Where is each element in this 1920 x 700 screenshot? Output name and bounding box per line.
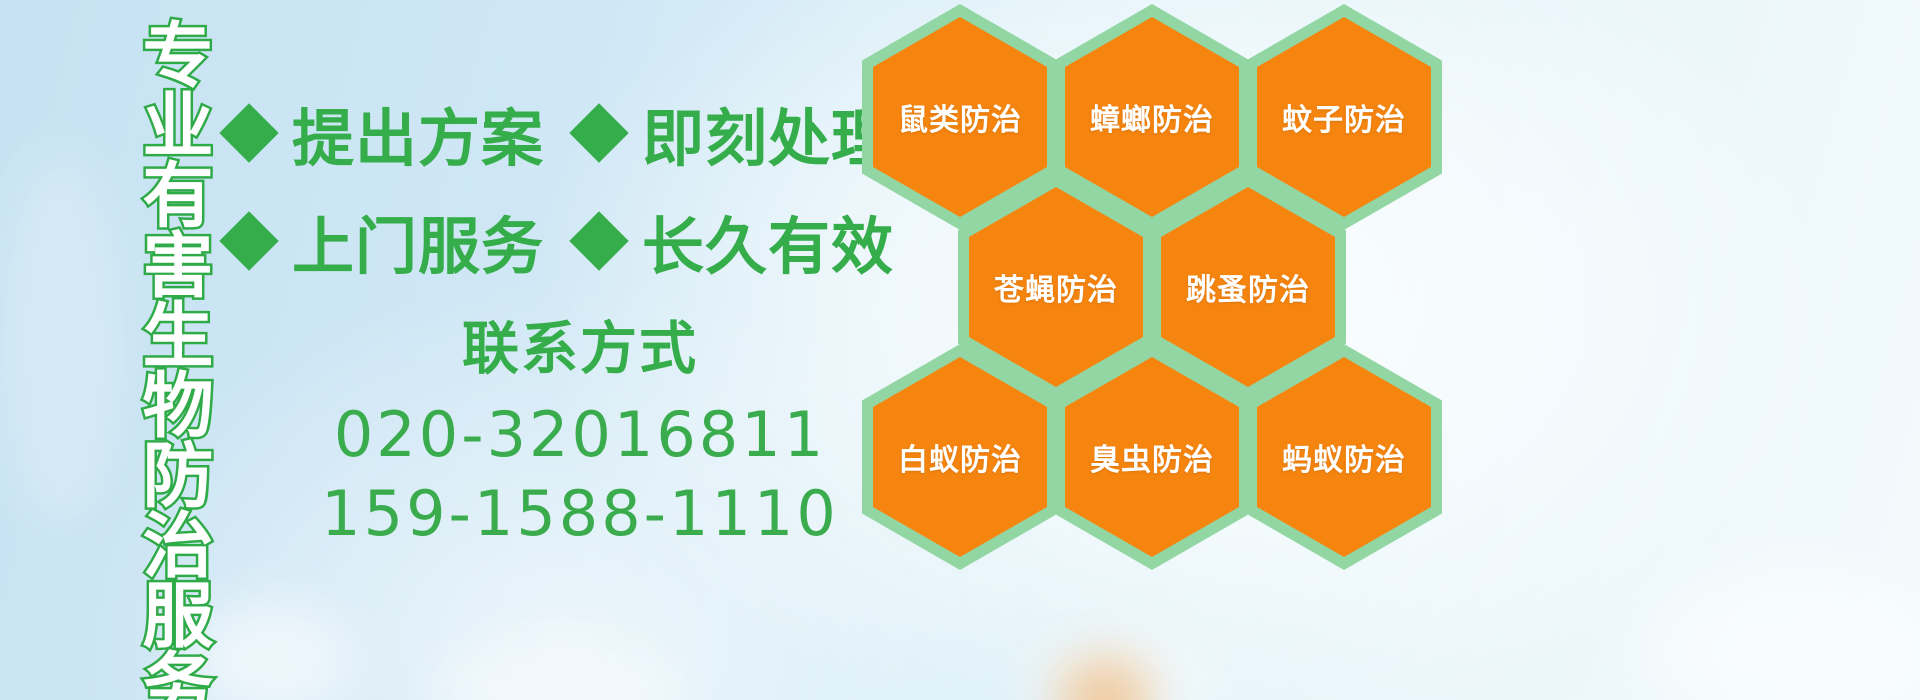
contact-label: 联系方式 <box>300 318 860 381</box>
vertical-headline: 专业有害生物防治服务 <box>104 18 208 564</box>
banner-canvas: 专业有害生物防治服务 提出方案 即刻处理 上门服务 长久有效 联系方式 020-… <box>0 0 1920 700</box>
hex-label: 蚊子防治 <box>1282 95 1406 139</box>
hex-label: 蟑螂防治 <box>1090 95 1214 139</box>
feature-row-2: 上门服务 长久有效 <box>228 196 894 286</box>
bokeh-blob <box>1020 630 1220 700</box>
hex-label: 臭虫防治 <box>1090 435 1214 479</box>
feature-label-onsite-service: 上门服务 <box>292 196 544 286</box>
service-honeycomb: 鼠类防治 蟑螂防治 蚊子防治 苍蝇防治 跳蚤防治 白蚁防治 <box>856 0 1476 594</box>
hex-label: 蚂蚁防治 <box>1282 435 1406 479</box>
hex-label: 苍蝇防治 <box>994 265 1118 309</box>
bokeh-blob <box>1640 560 1920 700</box>
phone-landline[interactable]: 020-32016811 <box>300 395 860 474</box>
hex-label: 跳蚤防治 <box>1186 265 1310 309</box>
hex-cell-bedbug[interactable]: 臭虫防治 <box>1054 344 1250 570</box>
bokeh-blob <box>0 150 120 530</box>
hex-label: 鼠类防治 <box>898 95 1022 139</box>
bokeh-blob-orange <box>1060 660 1150 700</box>
diamond-bullet-icon <box>569 103 628 162</box>
hex-cell-ant[interactable]: 蚂蚁防治 <box>1246 344 1442 570</box>
contact-block: 联系方式 020-32016811 159-1588-1110 <box>300 318 860 553</box>
phone-mobile[interactable]: 159-1588-1110 <box>300 474 860 553</box>
hex-label: 白蚁防治 <box>898 435 1022 479</box>
diamond-bullet-icon <box>569 211 628 270</box>
hex-cell-termite[interactable]: 白蚁防治 <box>862 344 1058 570</box>
feature-label-propose-plan: 提出方案 <box>292 88 544 178</box>
bokeh-blob <box>430 640 690 700</box>
diamond-bullet-icon <box>219 103 278 162</box>
feature-row-1: 提出方案 即刻处理 <box>228 88 894 178</box>
diamond-bullet-icon <box>219 211 278 270</box>
